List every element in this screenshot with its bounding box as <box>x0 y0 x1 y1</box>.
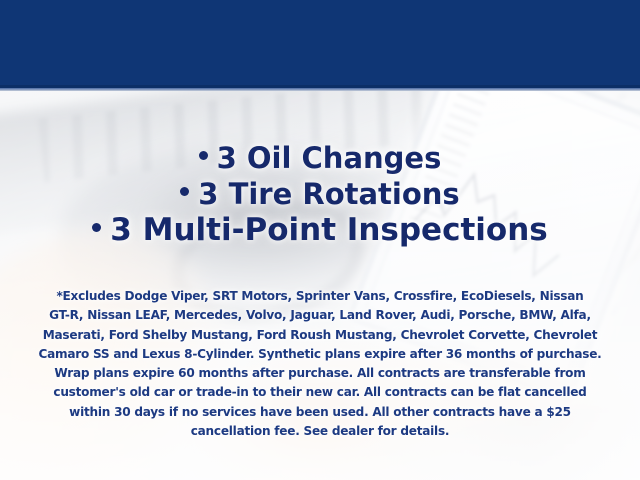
list-item: 3 Oil Changes <box>0 140 640 176</box>
bullet-dot-icon <box>199 151 208 160</box>
benefits-list: 3 Oil Changes 3 Tire Rotations 3 Multi-P… <box>0 140 640 248</box>
bullet-dot-icon <box>92 223 101 232</box>
benefit-label: 3 Oil Changes <box>217 141 442 175</box>
benefit-label: 3 Tire Rotations <box>198 177 459 211</box>
list-item: 3 Tire Rotations <box>0 176 640 212</box>
bullet-dot-icon <box>180 187 189 196</box>
disclaimer-line: Maserati, Ford Shelby Mustang, Ford Rous… <box>37 325 603 344</box>
disclaimer-line: *Excludes Dodge Viper, SRT Motors, Sprin… <box>37 286 603 305</box>
benefit-label: 3 Multi-Point Inspections <box>110 212 547 248</box>
disclaimer-line: within 30 days if no services have been … <box>37 402 603 421</box>
disclaimer-line: cancellation fee. See dealer for details… <box>37 421 603 440</box>
disclaimer-line: customer's old car or trade-in to their … <box>37 382 603 401</box>
disclaimer-line: Camaro SS and Lexus 8-Cylinder. Syntheti… <box>37 344 603 363</box>
list-item: 3 Multi-Point Inspections <box>0 212 640 248</box>
disclaimer-text: *Excludes Dodge Viper, SRT Motors, Sprin… <box>30 286 610 440</box>
extracare-package-ad: ExtraCare Package* 3 Oil Changes 3 Tire … <box>0 0 640 480</box>
disclaimer-line: GT-R, Nissan LEAF, Mercedes, Volvo, Jagu… <box>37 305 603 324</box>
disclaimer-line: Wrap plans expire 60 months after purcha… <box>37 363 603 382</box>
header-underline-divider <box>0 88 640 91</box>
header-band <box>0 0 640 88</box>
